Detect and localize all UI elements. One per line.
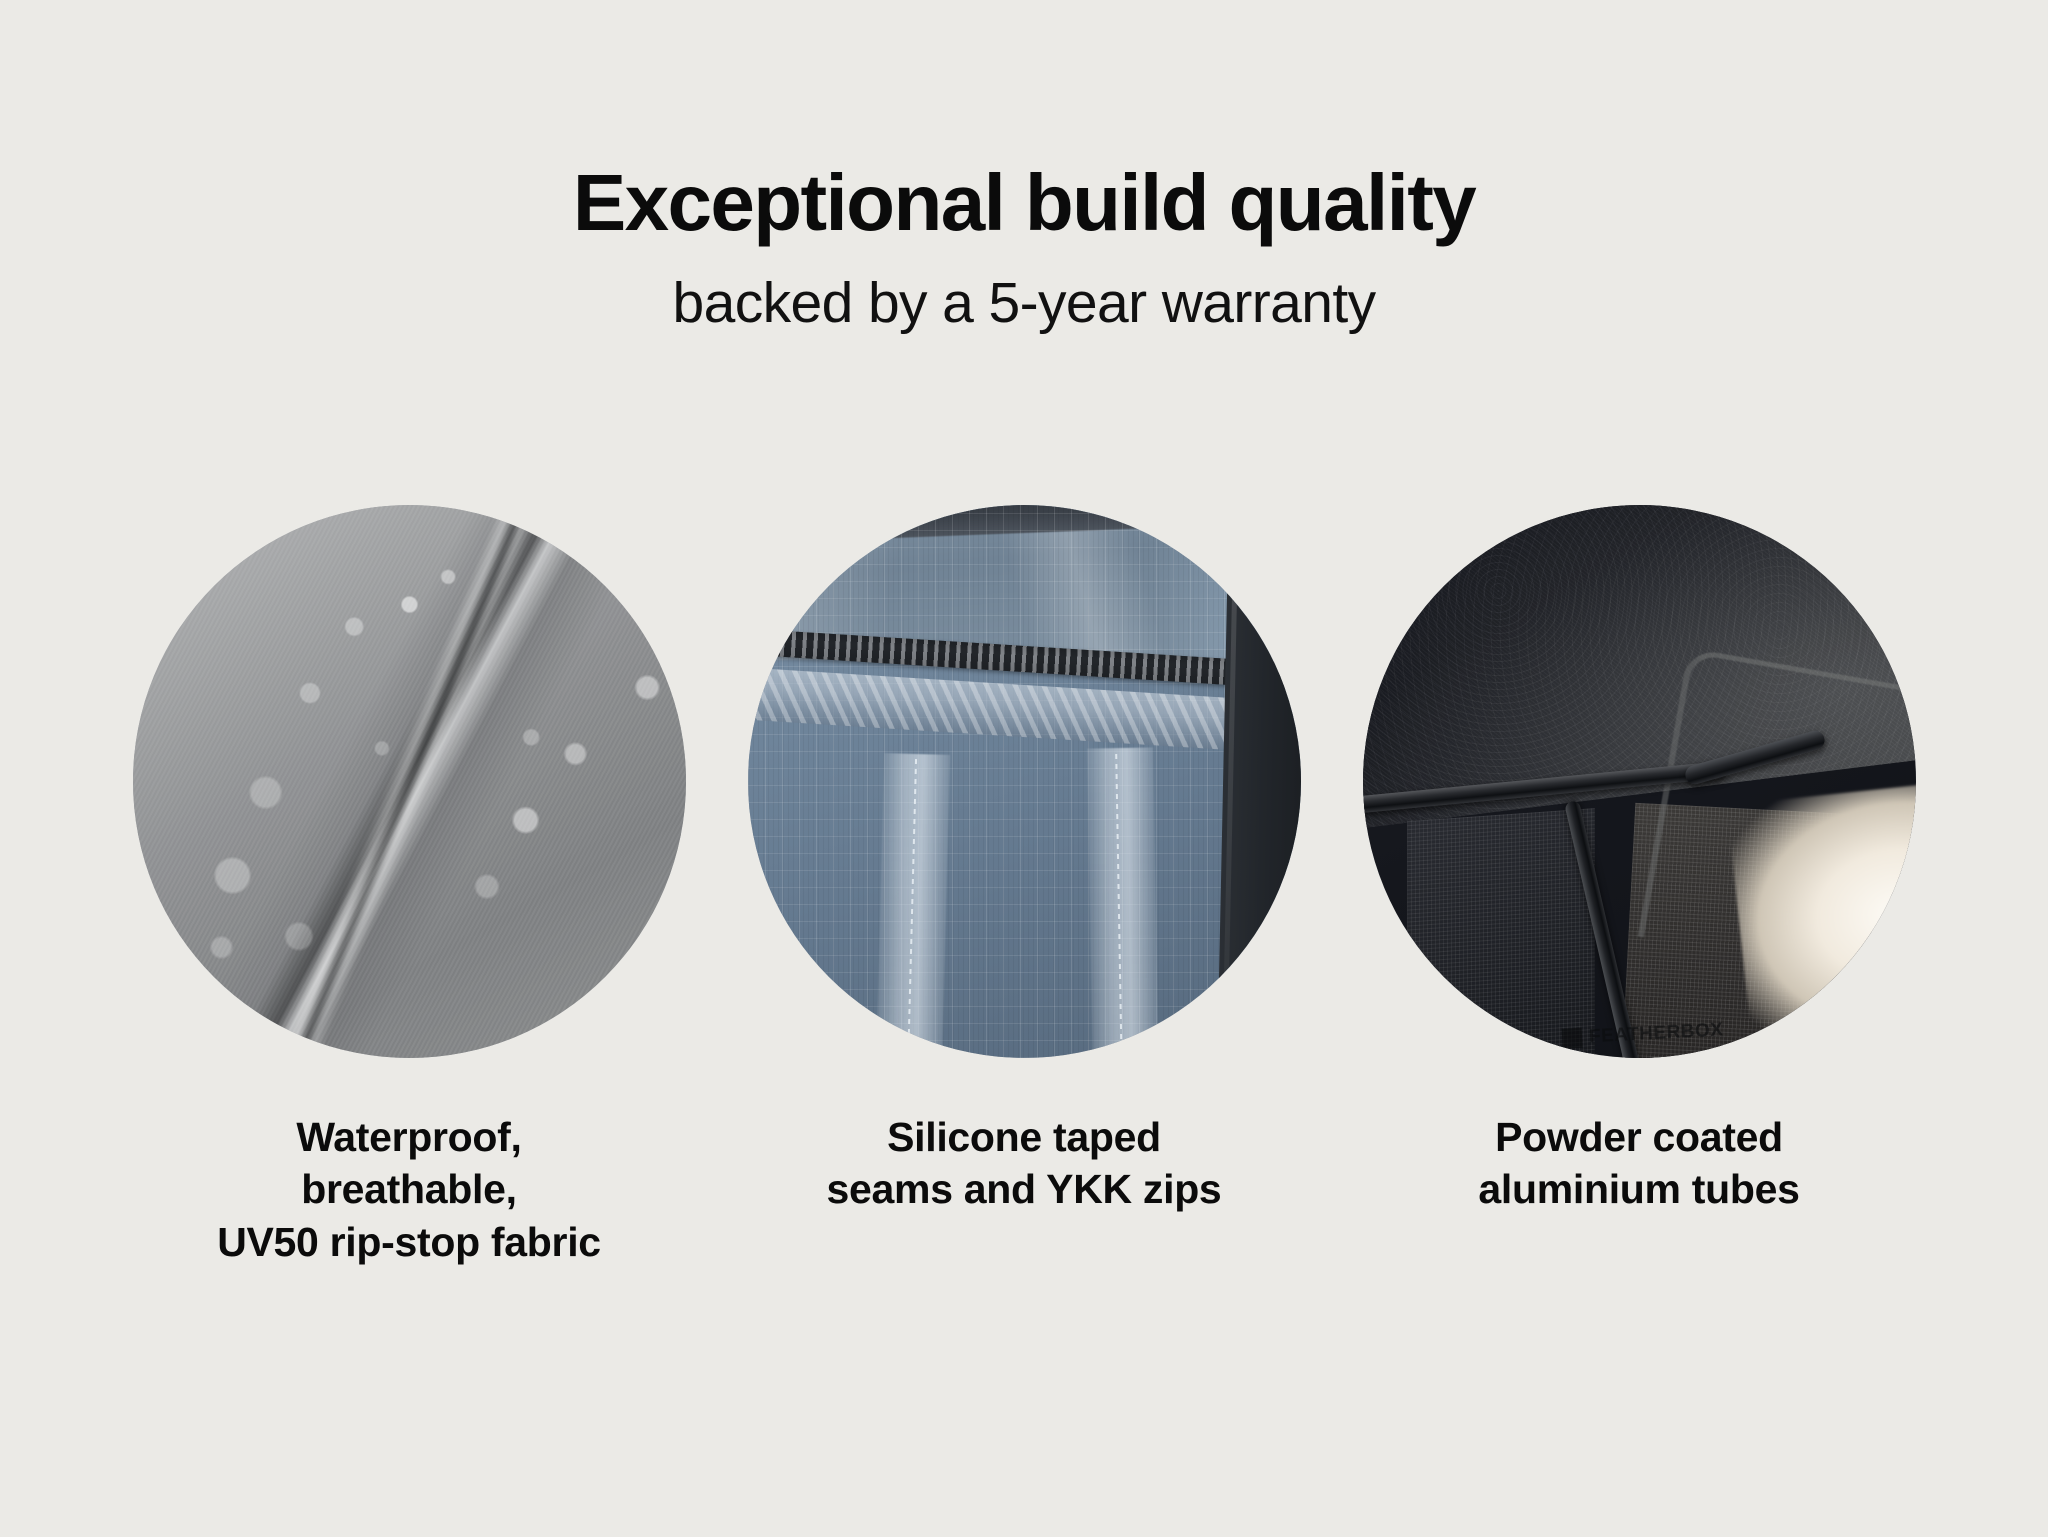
zip-taped-seams-photo (748, 505, 1301, 1058)
feature-image-waterproof-fabric (133, 505, 686, 1058)
feature-list: Waterproof, breathable, UV50 rip-stop fa… (0, 505, 2048, 1268)
feature-section: Exceptional build quality backed by a 5-… (0, 0, 2048, 1537)
feature-image-powder-coated-tubes: FEATHERBOX (1363, 505, 1916, 1058)
feature-caption-waterproof-fabric: Waterproof, breathable, UV50 rip-stop fa… (217, 1111, 601, 1268)
heading-block: Exceptional build quality backed by a 5-… (0, 160, 2048, 336)
brand-mark-icon (1561, 1028, 1582, 1049)
taped-seam-strip-right (1087, 748, 1159, 1058)
feature-item-taped-seams-zips: Silicone taped seams and YKK zips (748, 505, 1301, 1216)
page-title: Exceptional build quality (0, 160, 2048, 246)
feature-caption-taped-seams-zips: Silicone taped seams and YKK zips (827, 1111, 1222, 1216)
brand-logo-text: FEATHERBOX (1588, 1019, 1723, 1048)
page-subtitle: backed by a 5-year warranty (0, 272, 2048, 336)
tent-dark-edge-right (1217, 505, 1301, 1058)
daylight-glare (1726, 782, 1915, 1047)
feature-caption-powder-coated-tubes: Powder coated aluminium tubes (1478, 1111, 1799, 1216)
fabric-droplets-photo (133, 505, 686, 1058)
fabric-seam-highlight (245, 505, 547, 1058)
feature-item-waterproof-fabric: Waterproof, breathable, UV50 rip-stop fa… (133, 505, 686, 1268)
ripstop-weave-texture (748, 505, 1301, 1058)
feature-image-taped-seams-zips (748, 505, 1301, 1058)
tent-mesh-panel-left (1407, 808, 1595, 1058)
aluminium-tube-photo: FEATHERBOX (1363, 505, 1916, 1058)
feature-item-powder-coated-tubes: FEATHERBOX Powder coated aluminium tubes (1363, 505, 1916, 1216)
